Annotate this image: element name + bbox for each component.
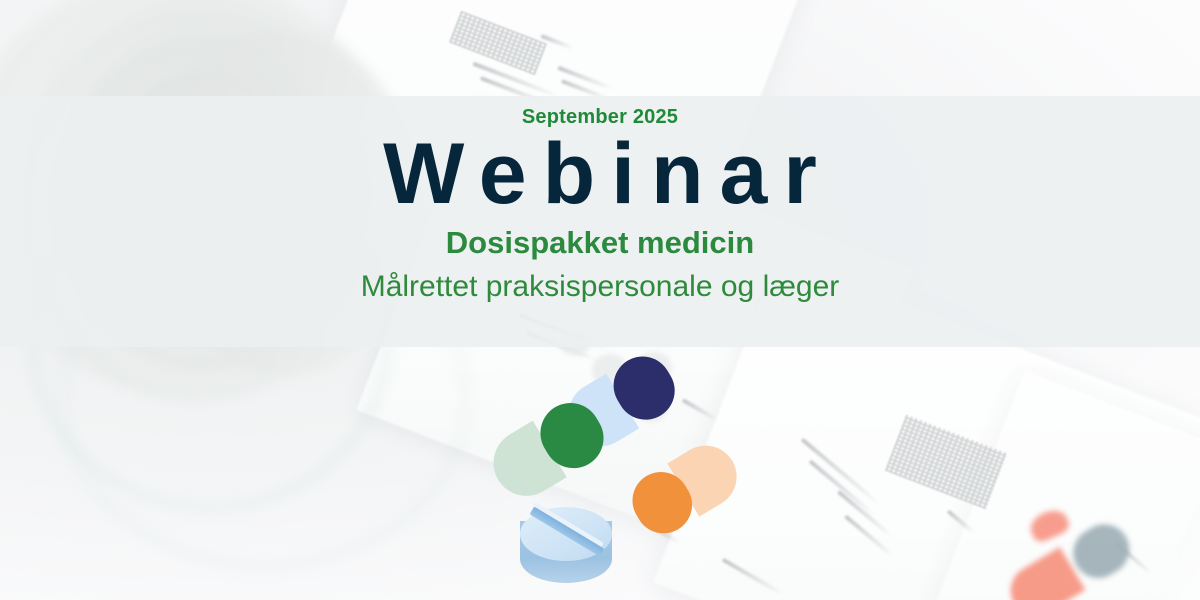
banner-subheadline: Dosispakket medicin <box>446 227 754 258</box>
webinar-banner: September 2025 Webinar Dosispakket medic… <box>0 0 1200 600</box>
blue-tablet-icon <box>518 503 614 589</box>
banner-headline: Webinar <box>367 131 833 219</box>
banner-eyebrow-date: September 2025 <box>522 107 678 127</box>
banner-text-stack: September 2025 Webinar Dosispakket medic… <box>0 96 1200 347</box>
banner-tagline: Målrettet praksispersonale og læger <box>361 272 840 302</box>
